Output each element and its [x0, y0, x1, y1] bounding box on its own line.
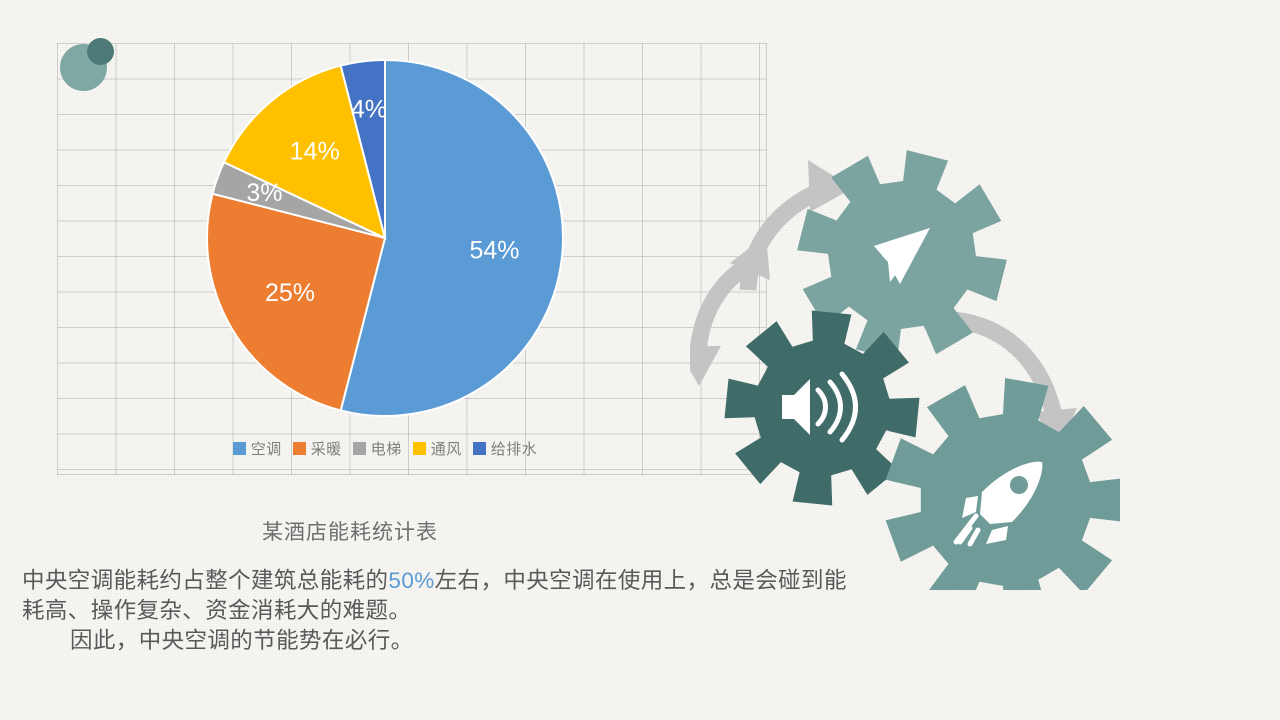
legend-label: 电梯 — [371, 438, 402, 459]
pie-chart-svg: 54%25%3%14%4% — [205, 58, 565, 418]
gear-rocket — [886, 378, 1120, 590]
pie-chart: 54%25%3%14%4% — [205, 58, 565, 418]
legend-swatch-icon — [233, 442, 246, 455]
pie-label-电梯: 3% — [246, 179, 282, 207]
legend-label: 给排水 — [491, 438, 538, 459]
legend-label: 空调 — [251, 438, 282, 459]
legend-item-通风[interactable]: 通风 — [413, 438, 462, 459]
legend-swatch-icon — [353, 442, 366, 455]
legend-swatch-icon — [473, 442, 486, 455]
body-line1-before: 中央空调能耗约占整个建筑总能耗的 — [22, 568, 388, 593]
gears-illustration — [690, 150, 1120, 590]
body-line2: 因此，中央空调的节能势在必行。 — [70, 628, 414, 653]
pie-label-采暖: 25% — [265, 279, 315, 307]
legend-item-采暖[interactable]: 采暖 — [293, 438, 342, 459]
body-highlight-percent: 50% — [388, 568, 434, 593]
legend-label: 采暖 — [311, 438, 342, 459]
legend-swatch-icon — [293, 442, 306, 455]
chart-caption: 某酒店能耗统计表 — [0, 516, 700, 546]
arrow-down-left-icon — [690, 235, 770, 386]
legend-label: 通风 — [431, 438, 462, 459]
legend-swatch-icon — [413, 442, 426, 455]
pie-label-通风: 14% — [290, 138, 340, 166]
legend-item-给排水[interactable]: 给排水 — [473, 438, 538, 459]
gears-svg — [690, 150, 1120, 590]
chart-legend: 空调采暖电梯通风给排水 — [205, 438, 565, 459]
slide-canvas: 54%25%3%14%4% 空调采暖电梯通风给排水 某酒店能耗统计表 中央空调能… — [0, 0, 1280, 720]
pie-label-给排水: 4% — [351, 96, 387, 124]
pie-label-空调: 54% — [469, 236, 519, 264]
legend-item-空调[interactable]: 空调 — [233, 438, 282, 459]
logo-small-circle — [87, 38, 114, 65]
circles-logo — [60, 38, 114, 92]
legend-item-电梯[interactable]: 电梯 — [353, 438, 402, 459]
